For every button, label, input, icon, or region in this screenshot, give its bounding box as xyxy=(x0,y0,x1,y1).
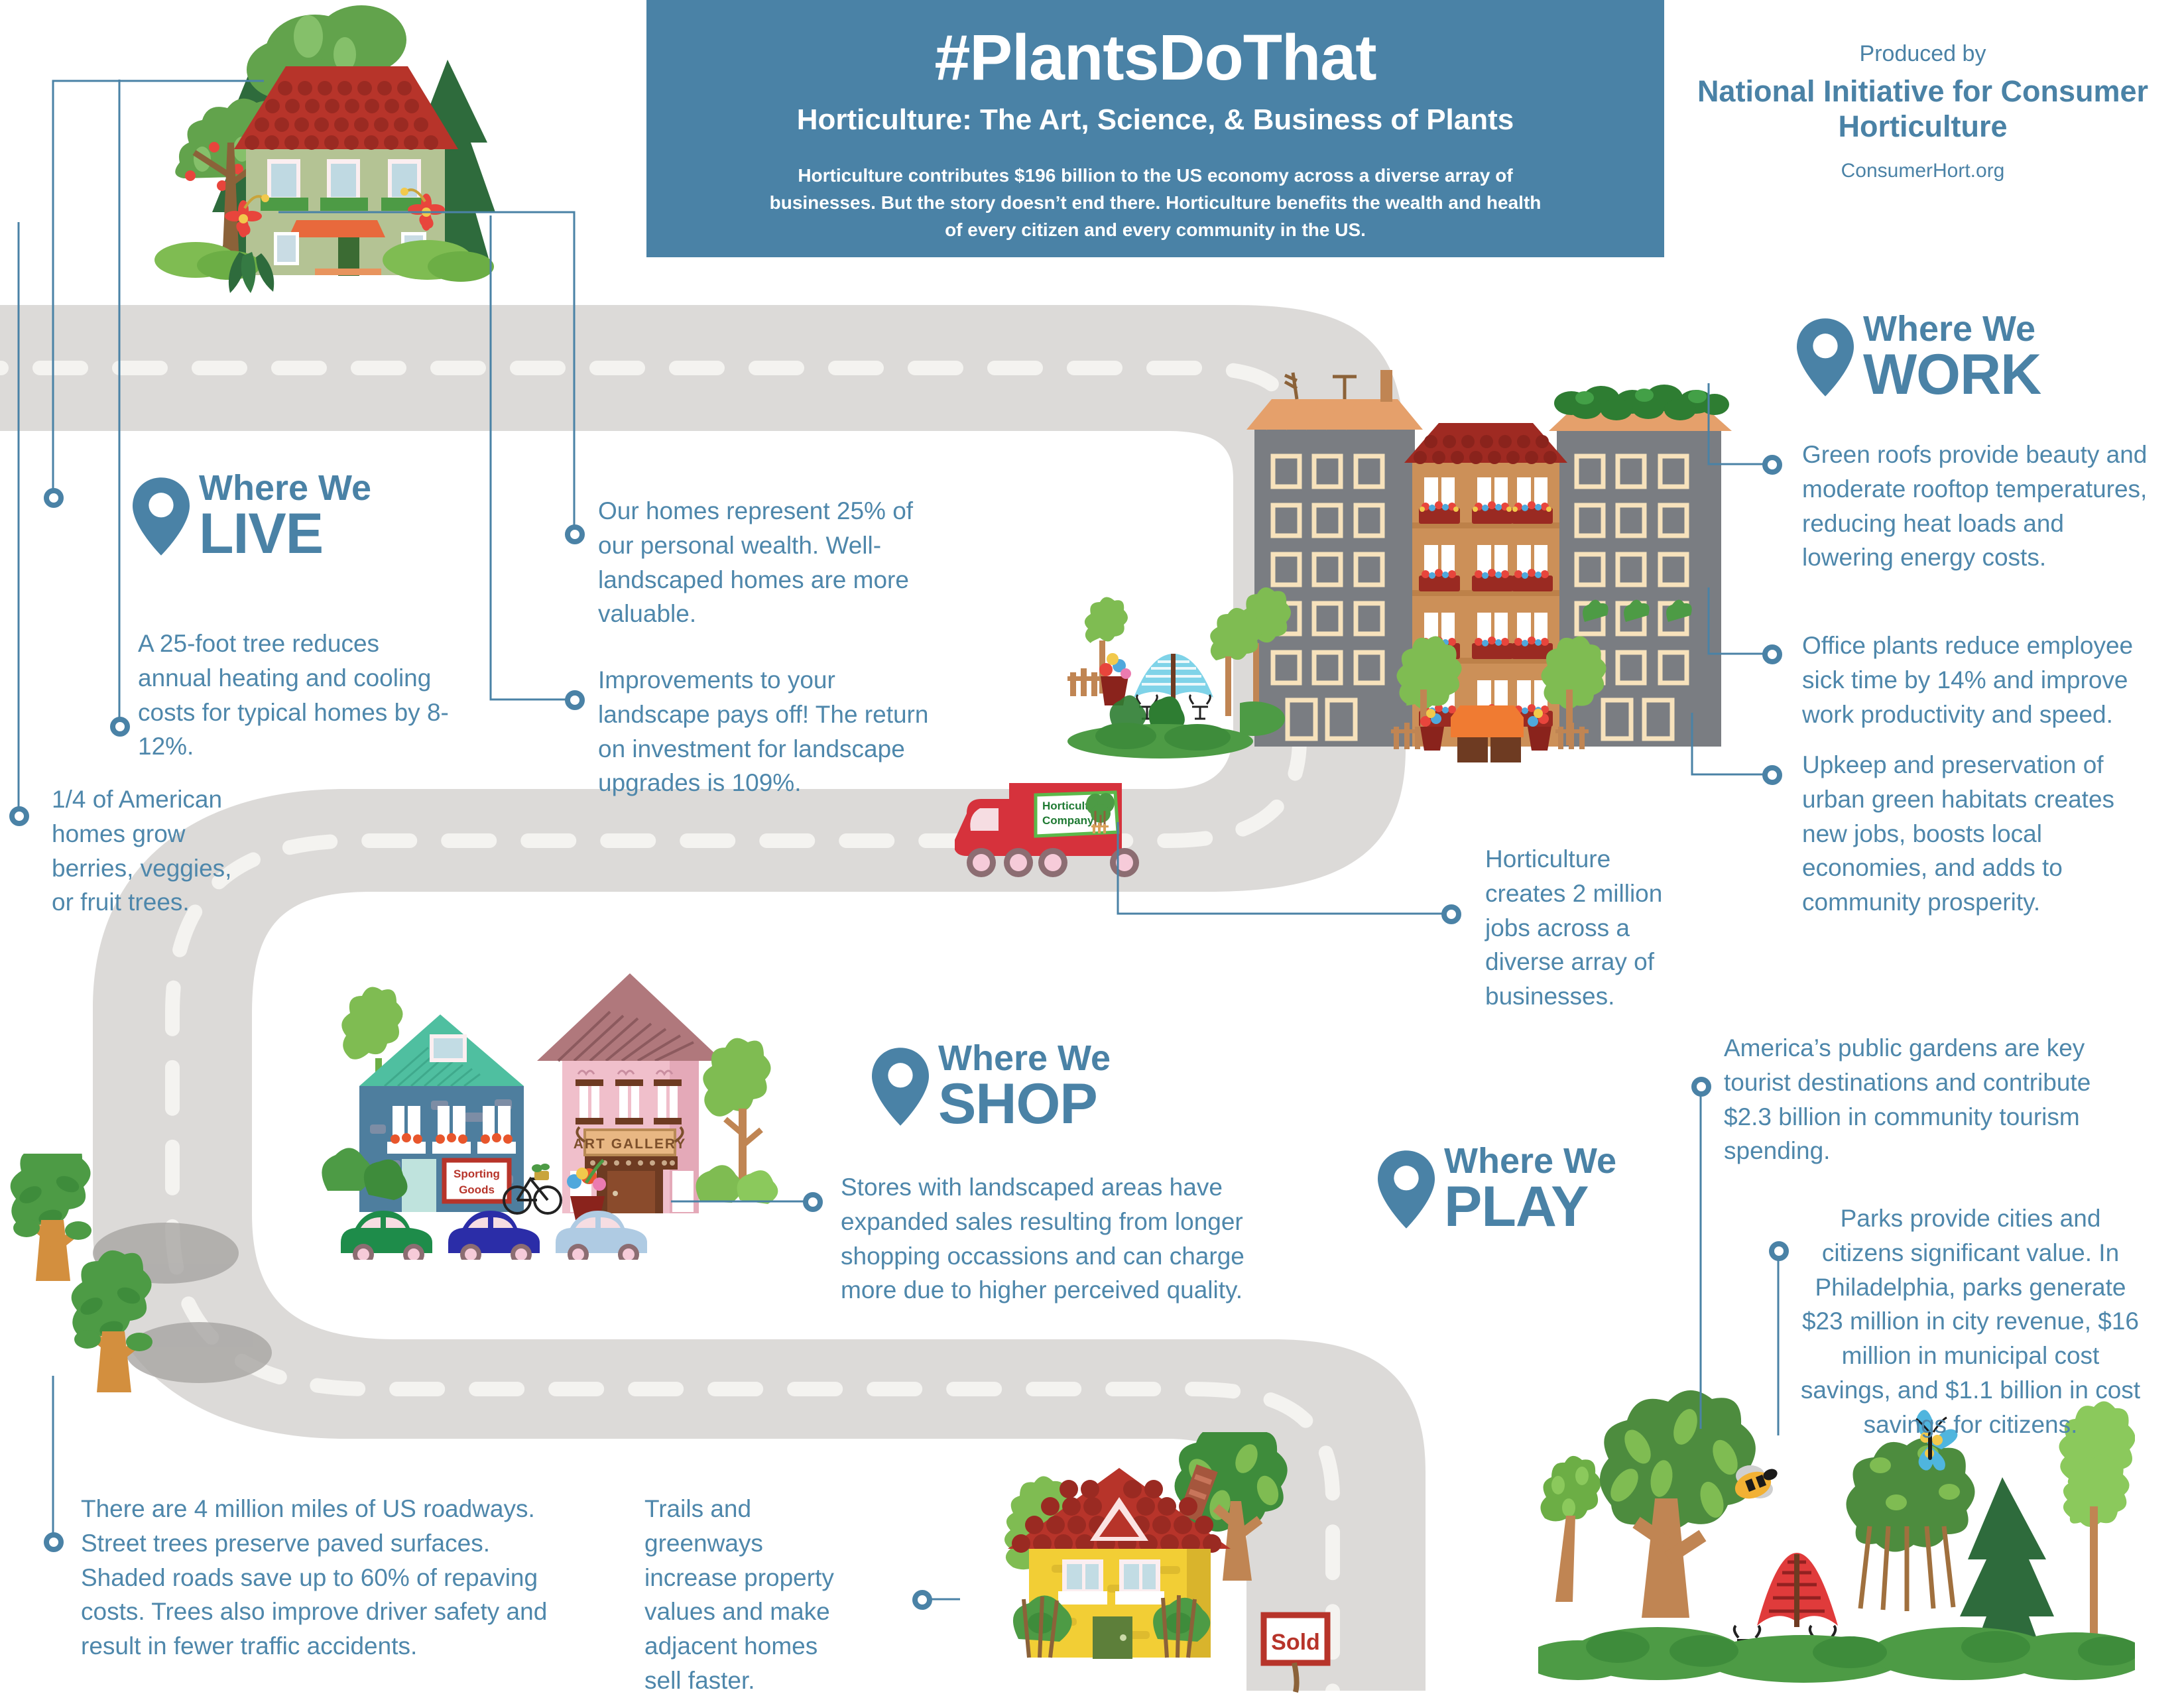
section-heading-work-line2: WORK xyxy=(1863,347,2041,402)
connector-dot-live-roi xyxy=(565,690,585,710)
fact-shop-stores: Stores with landscaped areas have expand… xyxy=(841,1170,1285,1307)
page-title: #PlantsDoThat xyxy=(646,25,1664,90)
section-heading-live-line2: LIVE xyxy=(199,506,371,562)
fact-live-roi: Improvements to your landscape pays off!… xyxy=(598,663,930,800)
fact-trails: Trails and greenways increase property v… xyxy=(644,1492,843,1698)
map-pin-icon xyxy=(1378,1150,1435,1229)
fact-work-jobs: Horticulture creates 2 million jobs acro… xyxy=(1485,842,1684,1014)
fact-work-office-plants: Office plants reduce employee sick time … xyxy=(1802,629,2160,731)
fact-play-parks: Parks provide cities and citizens signif… xyxy=(1798,1201,2143,1442)
section-heading-play-line1: Where We xyxy=(1444,1144,1616,1179)
section-heading-live: Where We LIVE xyxy=(133,471,371,562)
connector-dot-trails xyxy=(912,1590,932,1610)
section-heading-work-line1: Where We xyxy=(1863,312,2041,347)
section-heading-work: Where We WORK xyxy=(1797,312,2041,402)
page-subtitle: Horticulture: The Art, Science, & Busine… xyxy=(646,104,1664,136)
map-pin-icon xyxy=(1797,318,1854,396)
organization-name: National Initiative for Consumer Horticu… xyxy=(1684,74,2161,144)
section-heading-play: Where We PLAY xyxy=(1378,1144,1616,1235)
connector-dot-work-office-plants xyxy=(1762,644,1782,664)
fact-live-wealth: Our homes represent 25% of our personal … xyxy=(598,494,916,631)
credits-block: Produced by National Initiative for Cons… xyxy=(1684,41,2161,182)
section-heading-shop: Where We SHOP xyxy=(872,1041,1111,1132)
fact-roads: There are 4 million miles of US roadways… xyxy=(81,1492,558,1664)
header-body-text: Horticulture contributes $196 billion to… xyxy=(764,162,1547,243)
connector-dot-play-gardens xyxy=(1691,1077,1711,1097)
section-heading-live-line1: Where We xyxy=(199,471,371,506)
connector-dot-work-green-roofs xyxy=(1762,455,1782,475)
fact-play-gardens: America’s public gardens are key tourist… xyxy=(1724,1031,2128,1168)
section-heading-shop-line2: SHOP xyxy=(938,1076,1111,1132)
connector-dot-work-upkeep xyxy=(1762,765,1782,785)
connector-dot-roads xyxy=(44,1532,64,1552)
fact-work-upkeep: Upkeep and preservation of urban green h… xyxy=(1802,748,2160,920)
connector-dot-live-label xyxy=(44,488,64,508)
connector-dot-live-tree xyxy=(110,717,130,737)
connector-dot-play-parks xyxy=(1769,1241,1789,1261)
section-heading-shop-line1: Where We xyxy=(938,1041,1111,1076)
fact-live-grow: 1/4 of American homes grow berries, vegg… xyxy=(52,782,251,920)
connector-dot-work-jobs xyxy=(1441,904,1461,924)
organization-url: ConsumerHort.org xyxy=(1684,160,2161,182)
fact-work-green-roofs: Green roofs provide beauty and moderate … xyxy=(1802,438,2160,575)
connector-dot-shop-stores xyxy=(803,1192,823,1212)
section-heading-play-line2: PLAY xyxy=(1444,1179,1616,1235)
connector-dot-live-grow xyxy=(9,806,29,826)
header-banner: #PlantsDoThat Horticulture: The Art, Sci… xyxy=(646,0,1664,257)
map-pin-icon xyxy=(872,1048,929,1126)
produced-by-label: Produced by xyxy=(1684,41,2161,67)
connector-dot-live-wealth xyxy=(565,524,585,544)
map-pin-icon xyxy=(133,477,190,556)
fact-live-tree: A 25-foot tree reduces annual heating an… xyxy=(138,627,450,764)
